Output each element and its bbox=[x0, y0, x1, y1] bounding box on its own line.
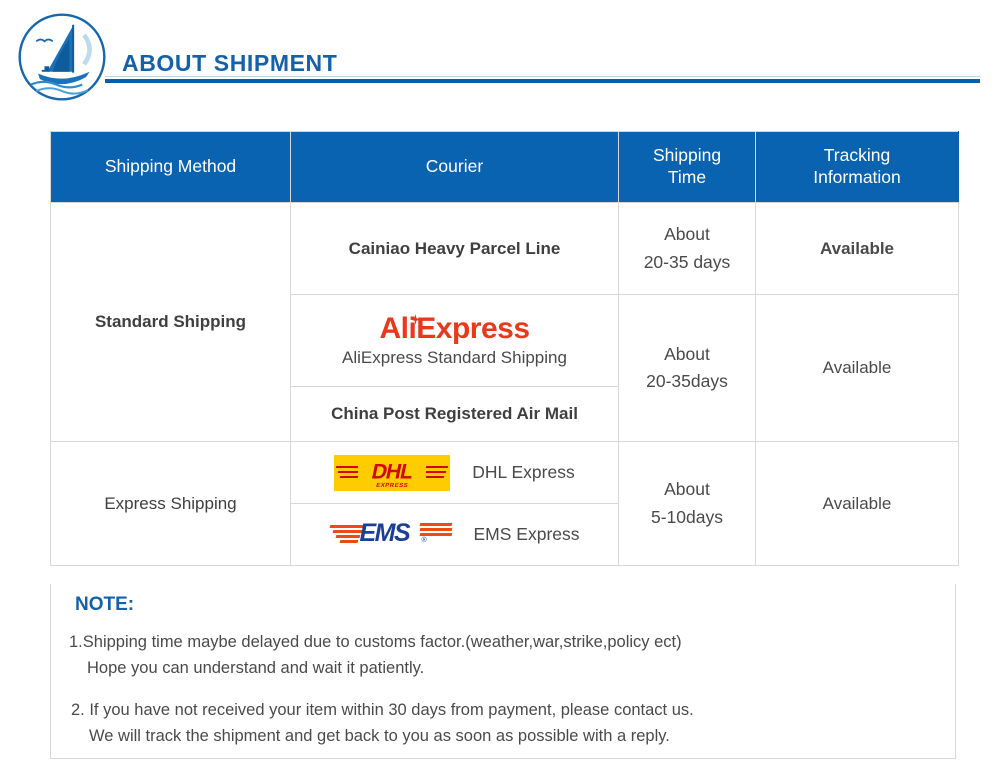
sailboat-circle-logo bbox=[16, 11, 108, 103]
cell-courier-dhl: DHL EXPRESS DHL Express bbox=[291, 442, 619, 504]
column-header-tracking-line2: Information bbox=[813, 167, 901, 187]
ems-logo-text: EMS bbox=[360, 521, 410, 546]
cell-time-express: About 5-10days bbox=[619, 442, 756, 566]
cell-courier-china-post: China Post Registered Air Mail bbox=[291, 387, 619, 442]
cell-time-standard-group2: About 20-35days bbox=[619, 295, 756, 442]
cell-courier-cainiao: Cainiao Heavy Parcel Line bbox=[291, 203, 619, 295]
aliexpress-logo-text: AliExpress bbox=[379, 312, 529, 345]
note-box: NOTE: 1.Shipping time maybe delayed due … bbox=[50, 584, 956, 759]
time-line2: 20-35days bbox=[619, 368, 755, 395]
cell-tracking-standard-group2: Available bbox=[756, 295, 959, 442]
cell-tracking-express: Available bbox=[756, 442, 959, 566]
dhl-logo-subtext: EXPRESS bbox=[376, 483, 409, 489]
cell-tracking-cainiao: Available bbox=[756, 203, 959, 295]
note-item: 1.Shipping time maybe delayed due to cus… bbox=[69, 630, 682, 681]
column-header-shipping-time-line2: Time bbox=[668, 167, 706, 187]
note-item-2-line-1: 2. If you have not received your item wi… bbox=[71, 698, 694, 724]
note-item-2-line-2: We will track the shipment and get back … bbox=[71, 724, 694, 750]
table-header-row: Shipping Method Courier Shipping Time Tr… bbox=[51, 132, 959, 203]
cell-courier-dhl-label: DHL Express bbox=[472, 462, 574, 483]
cell-method-express-shipping: Express Shipping bbox=[51, 442, 291, 566]
header-rule-accent bbox=[105, 79, 980, 83]
column-header-courier: Courier bbox=[291, 132, 619, 203]
cell-method-standard-shipping: Standard Shipping bbox=[51, 203, 291, 442]
column-header-tracking-information: Tracking Information bbox=[756, 132, 959, 203]
note-item-1-line-2: Hope you can understand and wait it pati… bbox=[69, 656, 682, 682]
dhl-logo-text: DHL bbox=[370, 460, 415, 484]
time-line1: About bbox=[619, 221, 755, 248]
time-line1: About bbox=[619, 476, 755, 503]
column-header-shipping-method: Shipping Method bbox=[51, 132, 291, 203]
note-item: 2. If you have not received your item wi… bbox=[71, 698, 694, 749]
ems-logo: EMS ® bbox=[330, 517, 452, 553]
registered-mark-icon: ® bbox=[422, 537, 427, 544]
aliexpress-logo: AliExpress bbox=[379, 313, 529, 345]
note-title: NOTE: bbox=[75, 594, 134, 616]
cell-courier-ems: EMS ® EMS Express bbox=[291, 504, 619, 566]
dhl-logo: DHL EXPRESS bbox=[334, 455, 450, 491]
time-line2: 5-10days bbox=[619, 504, 755, 531]
cell-courier-ems-label: EMS Express bbox=[474, 524, 580, 545]
page-header: ABOUT SHIPMENT bbox=[0, 0, 1000, 118]
header-rule-light bbox=[105, 76, 980, 77]
page-title: ABOUT SHIPMENT bbox=[122, 50, 337, 77]
note-item-1-line-1: 1.Shipping time maybe delayed due to cus… bbox=[69, 630, 682, 656]
table-row: Express Shipping DHL EXPRESS DHL Express… bbox=[51, 442, 959, 504]
shipping-table: Shipping Method Courier Shipping Time Tr… bbox=[50, 131, 959, 566]
time-line1: About bbox=[619, 341, 755, 368]
column-header-shipping-time: Shipping Time bbox=[619, 132, 756, 203]
cell-courier-aliexpress: AliExpress AliExpress Standard Shipping bbox=[291, 295, 619, 387]
column-header-tracking-line1: Tracking bbox=[824, 145, 890, 165]
time-line2: 20-35 days bbox=[619, 249, 755, 276]
column-header-shipping-time-line1: Shipping bbox=[653, 145, 721, 165]
sparkle-icon bbox=[410, 314, 421, 325]
table-row: Standard Shipping Cainiao Heavy Parcel L… bbox=[51, 203, 959, 295]
cell-courier-aliexpress-label: AliExpress Standard Shipping bbox=[297, 348, 612, 368]
cell-time-cainiao: About 20-35 days bbox=[619, 203, 756, 295]
